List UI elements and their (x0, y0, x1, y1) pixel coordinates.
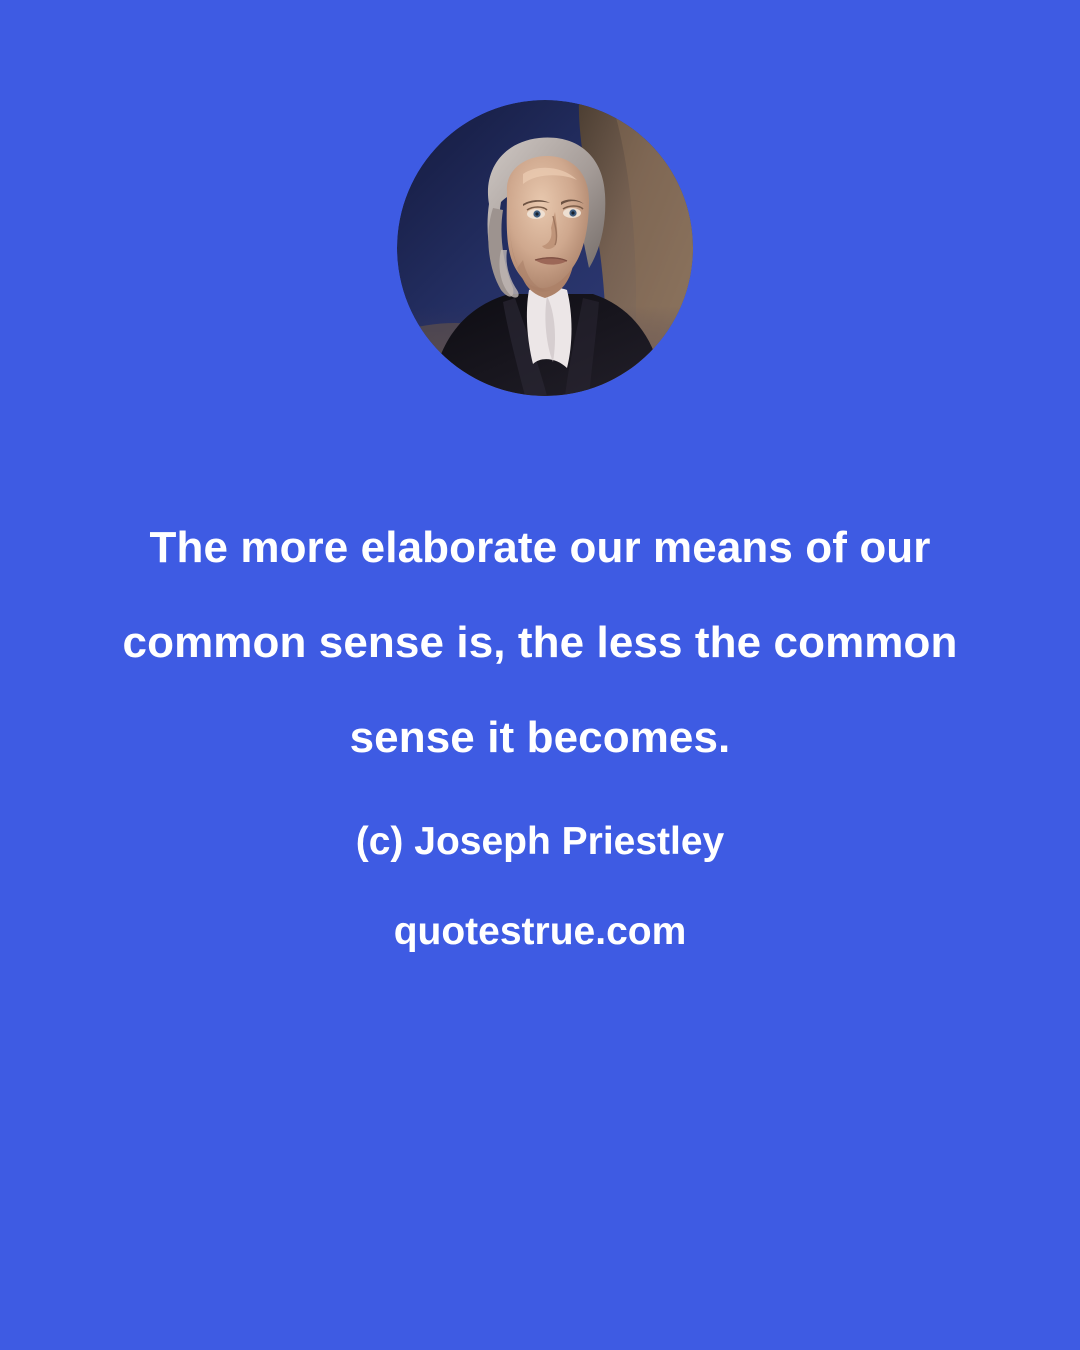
quote-line: sense it becomes. (0, 690, 1080, 785)
quote-line: common sense is, the less the common (0, 595, 1080, 690)
quote-card: The more elaborate our means of our comm… (0, 0, 1080, 1350)
portrait-avatar (397, 100, 693, 396)
quote-attribution: (c) Joseph Priestley (0, 816, 1080, 868)
portrait-container (397, 100, 693, 396)
quote-line: The more elaborate our means of our (0, 500, 1080, 595)
source-website: quotestrue.com (0, 906, 1080, 958)
quote-text: The more elaborate our means of our comm… (0, 500, 1080, 785)
